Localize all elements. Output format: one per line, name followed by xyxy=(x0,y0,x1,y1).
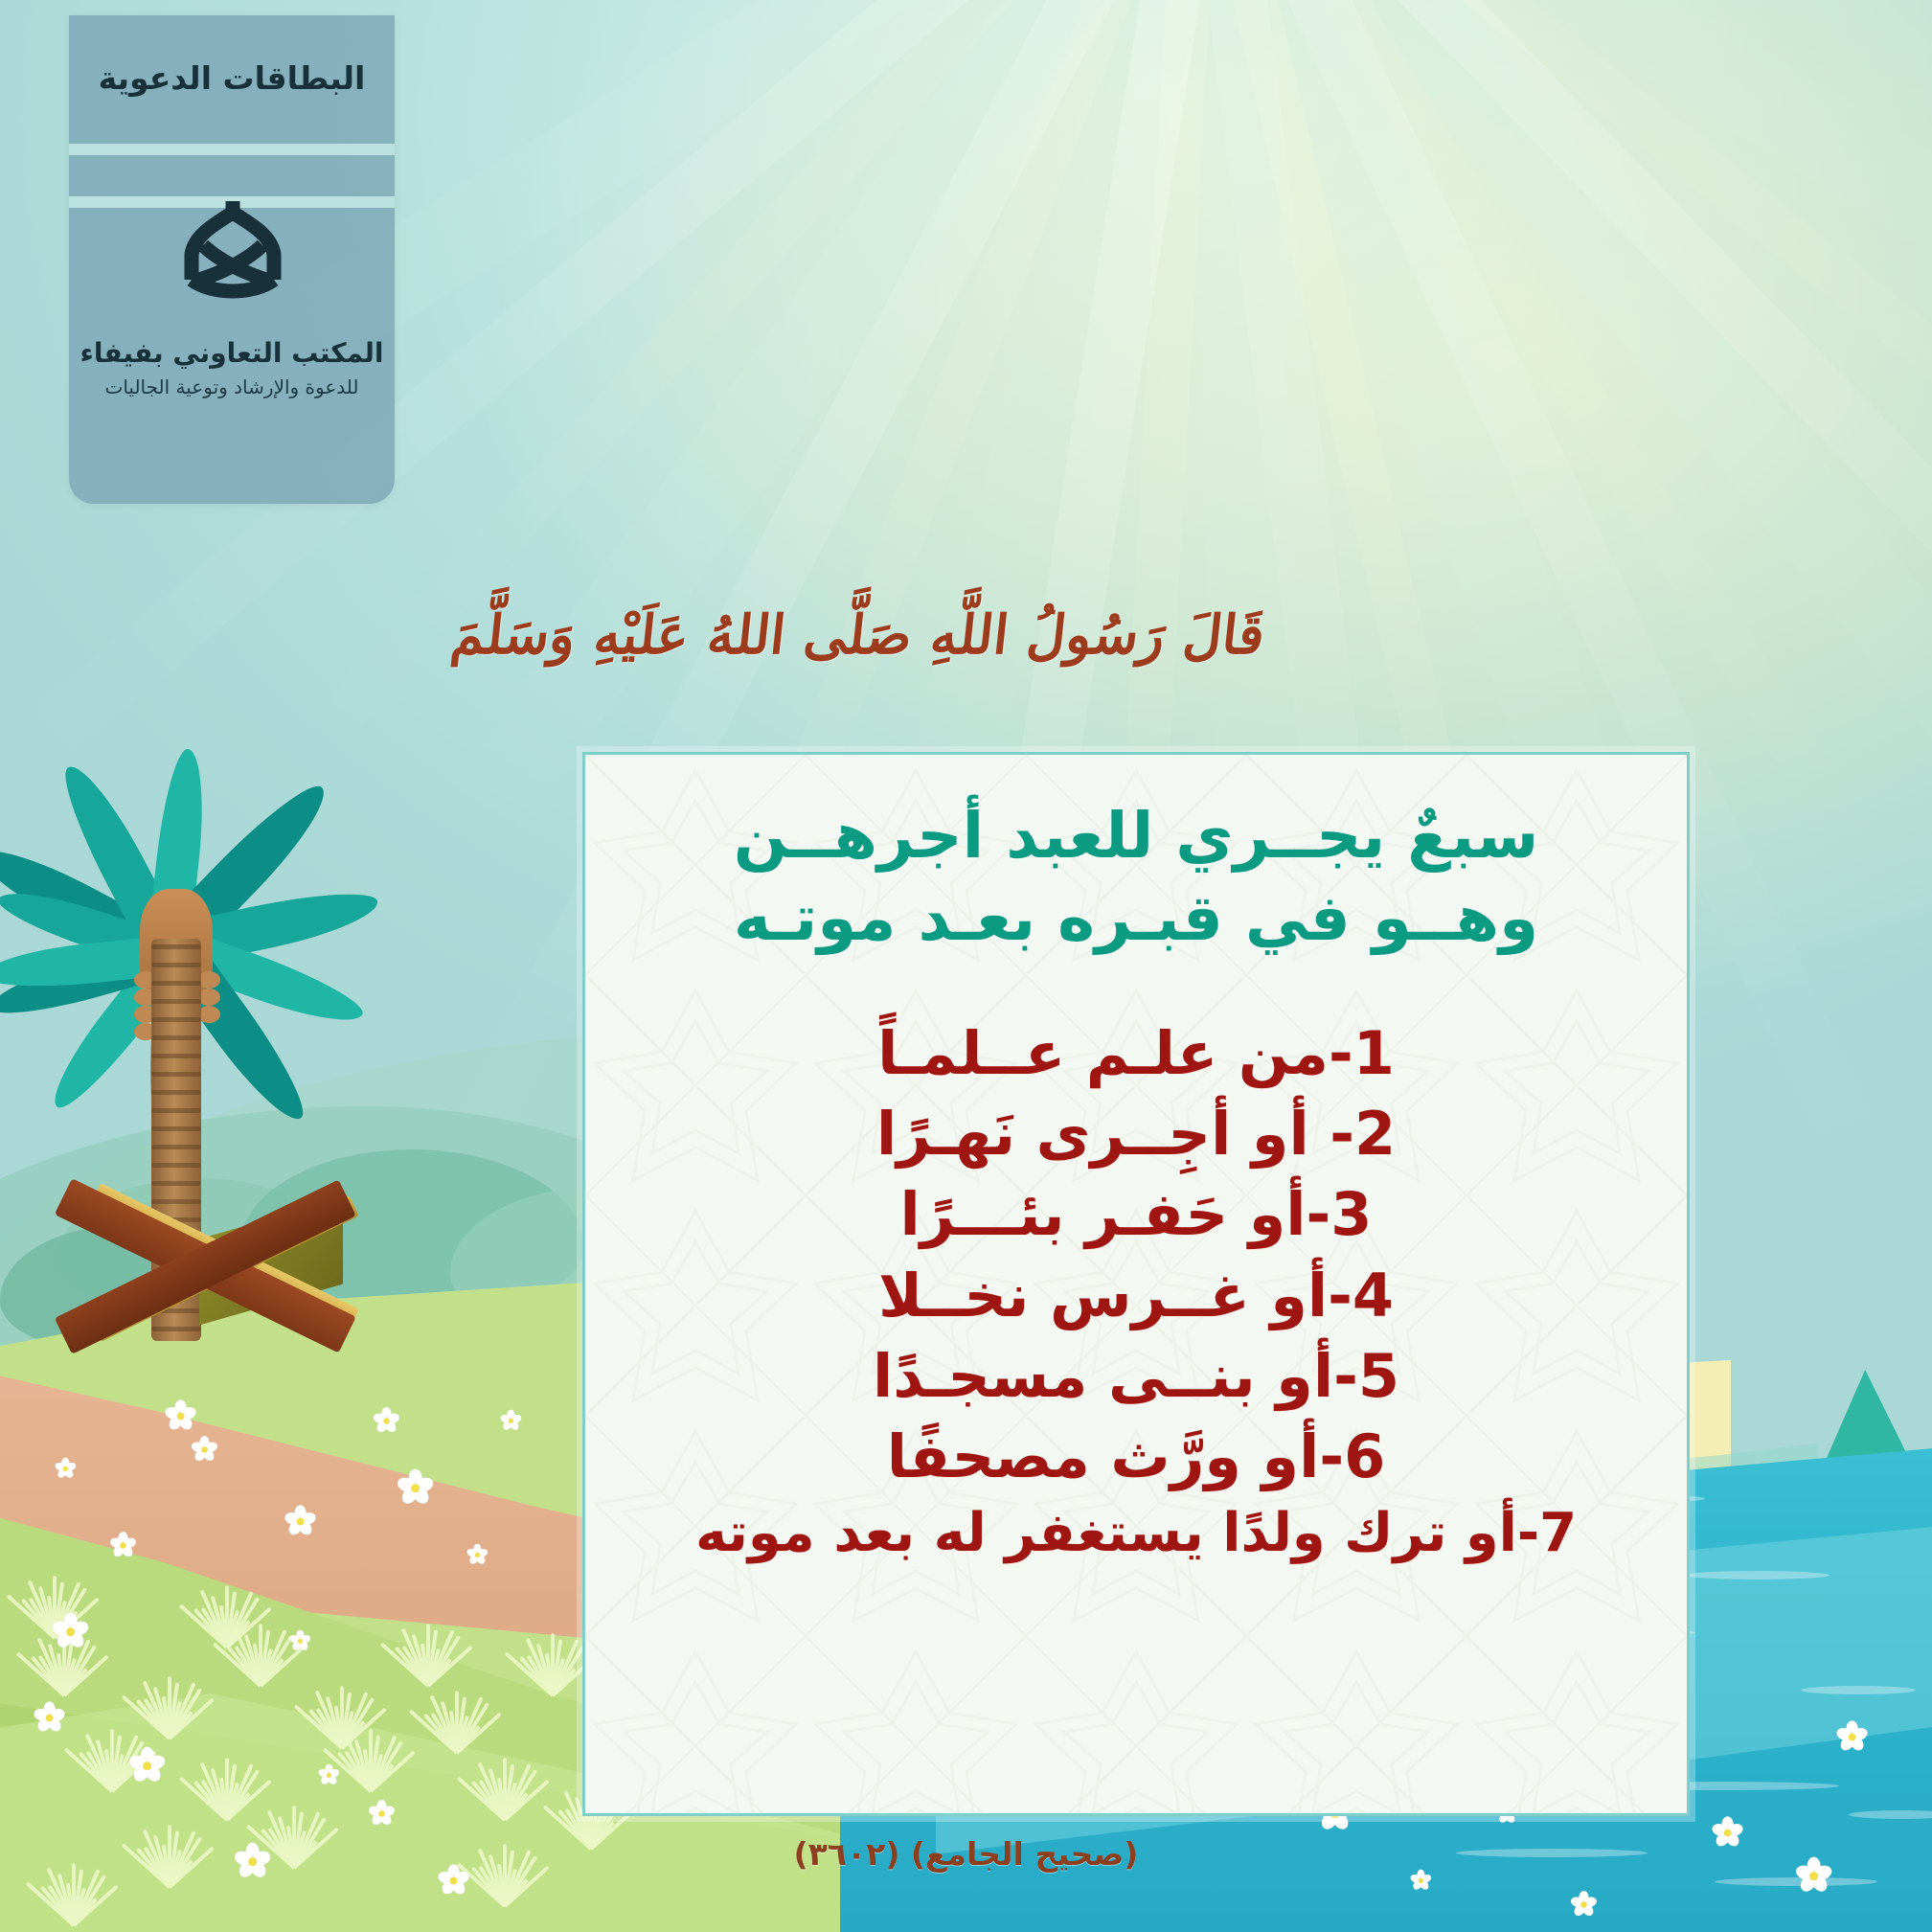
list-item: 7-أو ترك ولدًا يستغفر له بعد موته xyxy=(631,1497,1641,1570)
mosque-dome-logo-icon xyxy=(153,192,312,312)
list-item: 5-أو بنــى مسجـدًا xyxy=(631,1336,1641,1417)
hadith-attribution-calligraphy: قَالَ رَسُولُ اللَّهِ صَلَّى اللهُ عَلَي… xyxy=(668,603,1268,667)
organization-subtitle: للدعوة والإرشاد وتوعية الجاليات xyxy=(69,375,395,398)
quran-rihal-icon xyxy=(57,1176,383,1387)
list-item: 3-أو حَفـر بئـــرًا xyxy=(631,1174,1641,1255)
list-item: 6-أو ورَّث مصحفًا xyxy=(631,1417,1641,1497)
hadith-headline: سبعٌ يجــري للعبد أجرهــن وهــو في قبـره… xyxy=(631,795,1641,960)
list-item: 1-من علـم عــلمـاً xyxy=(631,1013,1641,1094)
badge-divider-top xyxy=(69,144,395,155)
list-item: 4-أو غــرس نخــلا xyxy=(631,1256,1641,1336)
hadith-list: 1-من علـم عــلمـاً 2- أو أجِــرى نَهـرًا… xyxy=(631,1013,1641,1571)
organization-name: المكتب التعاوني بفيفاء xyxy=(69,337,395,369)
list-item: 2- أو أجِــرى نَهـرًا xyxy=(631,1094,1641,1174)
hadith-card: سبعٌ يجــري للعبد أجرهــن وهــو في قبـره… xyxy=(582,752,1690,1816)
hadith-source-citation: (صحيح الجامع) (٣٦٠٢) xyxy=(0,1835,1932,1873)
headline-line-1: سبعٌ يجــري للعبد أجرهــن xyxy=(734,799,1538,873)
poster-canvas: البطاقات الدعوية المكتب التعاوني بفيفاء … xyxy=(0,0,1932,1932)
headline-line-2: وهــو في قبـره بعـد موتـه xyxy=(631,877,1641,960)
badge-title: البطاقات الدعوية xyxy=(69,59,395,97)
